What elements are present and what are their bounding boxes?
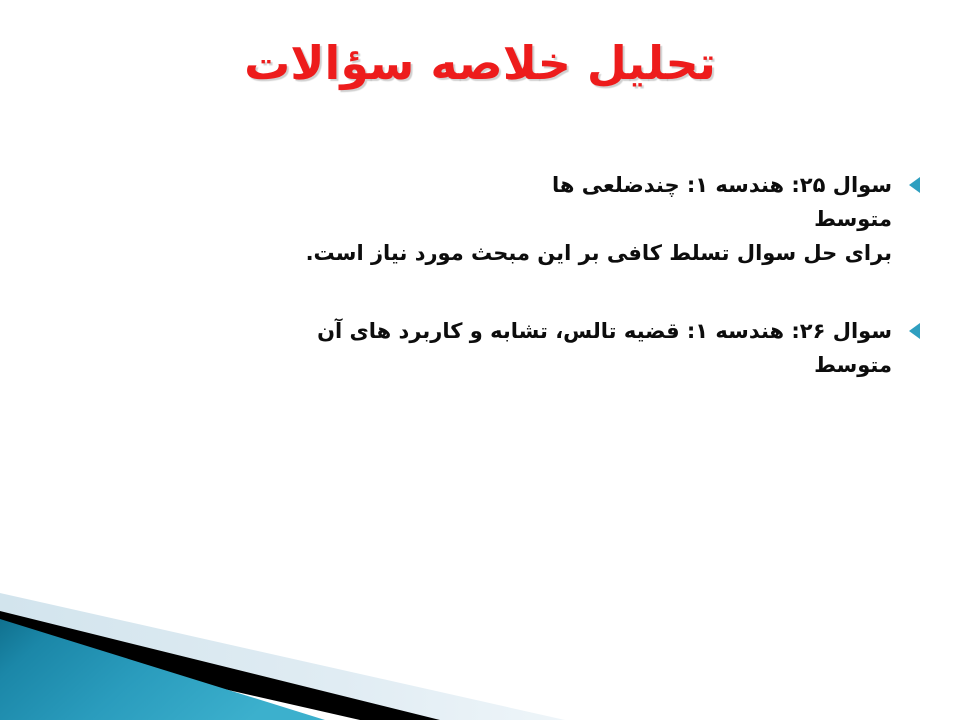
list-item-difficulty: متوسط	[40, 202, 920, 236]
deco-black-stripe	[0, 611, 440, 720]
corner-decoration	[0, 585, 620, 720]
list-item-heading: سوال ۲۶: هندسه ۱: قضیه تالس، تشابه و کار…	[40, 314, 920, 348]
triangle-bullet-icon	[909, 177, 920, 193]
page-title: تحلیل خلاصه سؤالات	[244, 38, 716, 90]
slide-canvas: تحلیل خلاصه سؤالات سوال ۲۵: هندسه ۱: چند…	[0, 0, 960, 720]
difficulty-label: متوسط	[814, 353, 892, 377]
list-item-heading: سوال ۲۵: هندسه ۱: چندضلعی ها	[40, 168, 920, 202]
deco-light-band	[0, 593, 565, 720]
deco-teal-pinstripes	[0, 619, 325, 720]
triangle-bullet-icon	[909, 323, 920, 339]
deco-teal-triangle	[0, 619, 325, 720]
question-heading-text: سوال ۲۶: هندسه ۱: قضیه تالس، تشابه و کار…	[317, 319, 892, 343]
slide-title-container: تحلیل خلاصه سؤالات	[0, 38, 960, 90]
list-item-difficulty: متوسط	[40, 348, 920, 382]
paragraph-spacer	[40, 270, 920, 314]
question-heading-text: سوال ۲۵: هندسه ۱: چندضلعی ها	[552, 173, 892, 197]
difficulty-label: متوسط	[814, 207, 892, 231]
slide-body: سوال ۲۵: هندسه ۱: چندضلعی ها متوسط برای …	[40, 168, 920, 382]
note-text: برای حل سوال تسلط کافی بر این مبحث مورد …	[306, 241, 892, 265]
list-item-note: برای حل سوال تسلط کافی بر این مبحث مورد …	[40, 236, 920, 270]
